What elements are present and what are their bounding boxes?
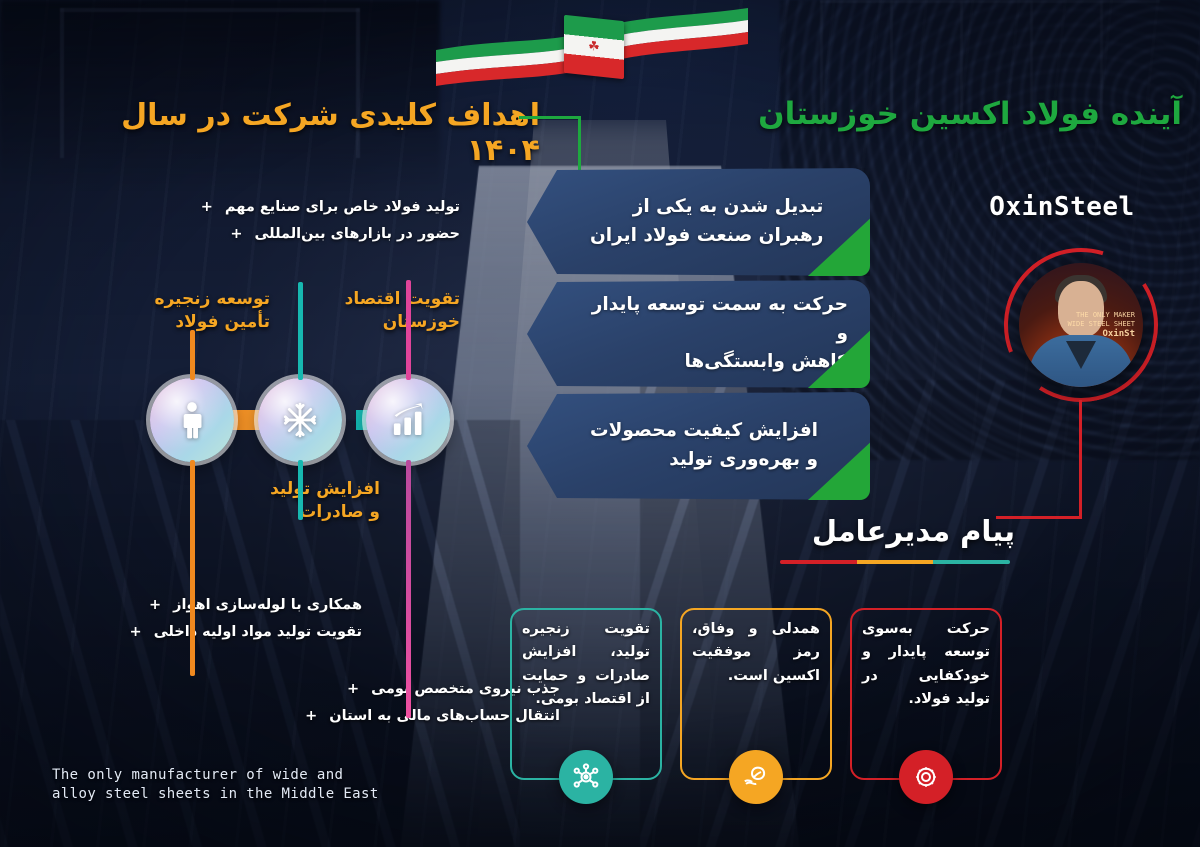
- quote-card-1[interactable]: تقویت زنجیره تولید، افزایش صادرات و حمای…: [510, 608, 662, 780]
- plus-icon: +: [142, 592, 168, 619]
- pillar-label-economy: تقویت اقتصادخوزستان: [300, 288, 460, 334]
- quote-card-3-text: حرکت به‌سوی توسعه پایدار و خودکفایی در ت…: [862, 618, 990, 712]
- ceo-portrait-avatar: THE ONLY MAKER WIDE STEEL SHEET OxinSt: [1019, 263, 1143, 387]
- hub-icon: [280, 400, 320, 440]
- chain-stem-up-pink: [406, 280, 411, 380]
- pillar-label-production: افزایش تولیدو صادرات: [210, 478, 380, 524]
- quote-card-2-text: همدلی و وفاق، رمز موفقیت اکسین است.: [692, 618, 820, 688]
- bullet-row: حضور در بازارهای بین‌المللی +: [70, 221, 460, 248]
- chain-stem-up-teal: [298, 282, 303, 380]
- page-title-right: آینده فولاد اکسین خوزستان: [622, 96, 1182, 132]
- pillar-label-supply-chain: توسعه زنجیرهتأمین فولاد: [110, 288, 270, 334]
- growth-chart-icon: [388, 400, 428, 440]
- goal-banner-1[interactable]: تبدیل شدن به یکی ازرهبران صنعت فولاد ایر…: [527, 168, 870, 276]
- bullet-text: حضور در بازارهای بین‌المللی: [254, 226, 460, 242]
- connector-horizontal: [519, 116, 581, 119]
- bullet-list-top: تولید فولاد خاص برای صنایع مهم + حضور در…: [70, 194, 460, 248]
- plus-icon: +: [340, 676, 366, 703]
- quote-card-3[interactable]: حرکت به‌سوی توسعه پایدار و خودکفایی در ت…: [850, 608, 1002, 780]
- ceo-message-underline: [780, 560, 1010, 564]
- goal-banner-3-text: افزایش کیفیت محصولاتو بهره‌وری تولید: [590, 392, 848, 500]
- brand-logo: OxinSteel: [952, 192, 1172, 222]
- chain-stem-down-orange: [190, 460, 195, 676]
- quote-card-1-badge: [559, 750, 613, 804]
- bullet-text: همکاری با لوله‌سازی اهواز: [173, 597, 362, 613]
- chain-stem-down-pink: [406, 460, 411, 718]
- badge-line-3: OxinSt: [1068, 329, 1135, 340]
- bullet-text: تولید فولاد خاص برای صنایع مهم: [225, 199, 460, 215]
- goal-banner-2-text: حرکت به سمت توسعه پایدار وکاهش وابستگی‌ه…: [590, 280, 848, 388]
- underline-red: [780, 560, 857, 564]
- pillar-icon-1[interactable]: [150, 378, 234, 462]
- plus-icon: +: [223, 221, 249, 248]
- pillar-icon-2[interactable]: [258, 378, 342, 462]
- bullet-text: تقویت تولید مواد اولیه داخلی: [154, 624, 362, 640]
- bullet-row: تقویت تولید مواد اولیه داخلی +: [62, 619, 362, 646]
- underline-teal: [933, 560, 1010, 564]
- underline-amber: [857, 560, 934, 564]
- badge-line-1: THE ONLY MAKER: [1068, 311, 1135, 320]
- plus-icon: +: [194, 194, 220, 221]
- person-icon: [172, 400, 212, 440]
- chain-stem-down-teal: [298, 460, 303, 520]
- tagline-line-1: The only manufacturer of wide and: [52, 766, 412, 785]
- pillar-icon-3[interactable]: [366, 378, 450, 462]
- goal-banner-2[interactable]: حرکت به سمت توسعه پایدار وکاهش وابستگی‌ه…: [527, 280, 870, 388]
- quote-card-3-badge: [899, 750, 953, 804]
- goal-banner-1-text: تبدیل شدن به یکی ازرهبران صنعت فولاد ایر…: [590, 168, 848, 276]
- plus-icon: +: [298, 703, 324, 730]
- badge-line-2: WIDE STEEL SHEET: [1068, 320, 1135, 329]
- network-person-icon: [571, 762, 601, 792]
- flag-center-panel: ☘: [564, 15, 624, 79]
- portrait-badge-text: THE ONLY MAKER WIDE STEEL SHEET OxinSt: [1068, 311, 1135, 340]
- page-title-left: اهداف کلیدی شرکت در سال ۱۴۰۴: [70, 98, 540, 168]
- english-tagline: The only manufacturer of wide and alloy …: [52, 766, 412, 804]
- gear-icon: [911, 762, 941, 792]
- quote-card-2-badge: [729, 750, 783, 804]
- hand-leaf-icon: [741, 762, 771, 792]
- plus-icon: +: [123, 619, 149, 646]
- infographic-canvas: ☘ آینده فولاد اکسین خوزستان اهداف کلیدی …: [0, 0, 1200, 847]
- iran-flag-ribbon: ☘: [432, 2, 752, 88]
- chain-stem-up-orange: [190, 330, 195, 380]
- ceo-message-title: پیام مدیرعامل: [685, 514, 1015, 548]
- quote-card-1-text: تقویت زنجیره تولید، افزایش صادرات و حمای…: [522, 618, 650, 712]
- tagline-line-2: alloy steel sheets in the Middle East: [52, 785, 412, 804]
- bullet-list-mid: همکاری با لوله‌سازی اهواز + تقویت تولید …: [62, 592, 362, 646]
- connector-vertical-1: [578, 116, 581, 174]
- pillar-icon-chain: [150, 378, 450, 462]
- goal-banner-3[interactable]: افزایش کیفیت محصولاتو بهره‌وری تولید: [527, 392, 870, 500]
- quote-card-2[interactable]: همدلی و وفاق، رمز موفقیت اکسین است.: [680, 608, 832, 780]
- portrait-connector-vertical: [1079, 400, 1082, 518]
- bullet-row: همکاری با لوله‌سازی اهواز +: [62, 592, 362, 619]
- bullet-row: تولید فولاد خاص برای صنایع مهم +: [70, 194, 460, 221]
- flag-emblem-icon: ☘: [588, 40, 601, 54]
